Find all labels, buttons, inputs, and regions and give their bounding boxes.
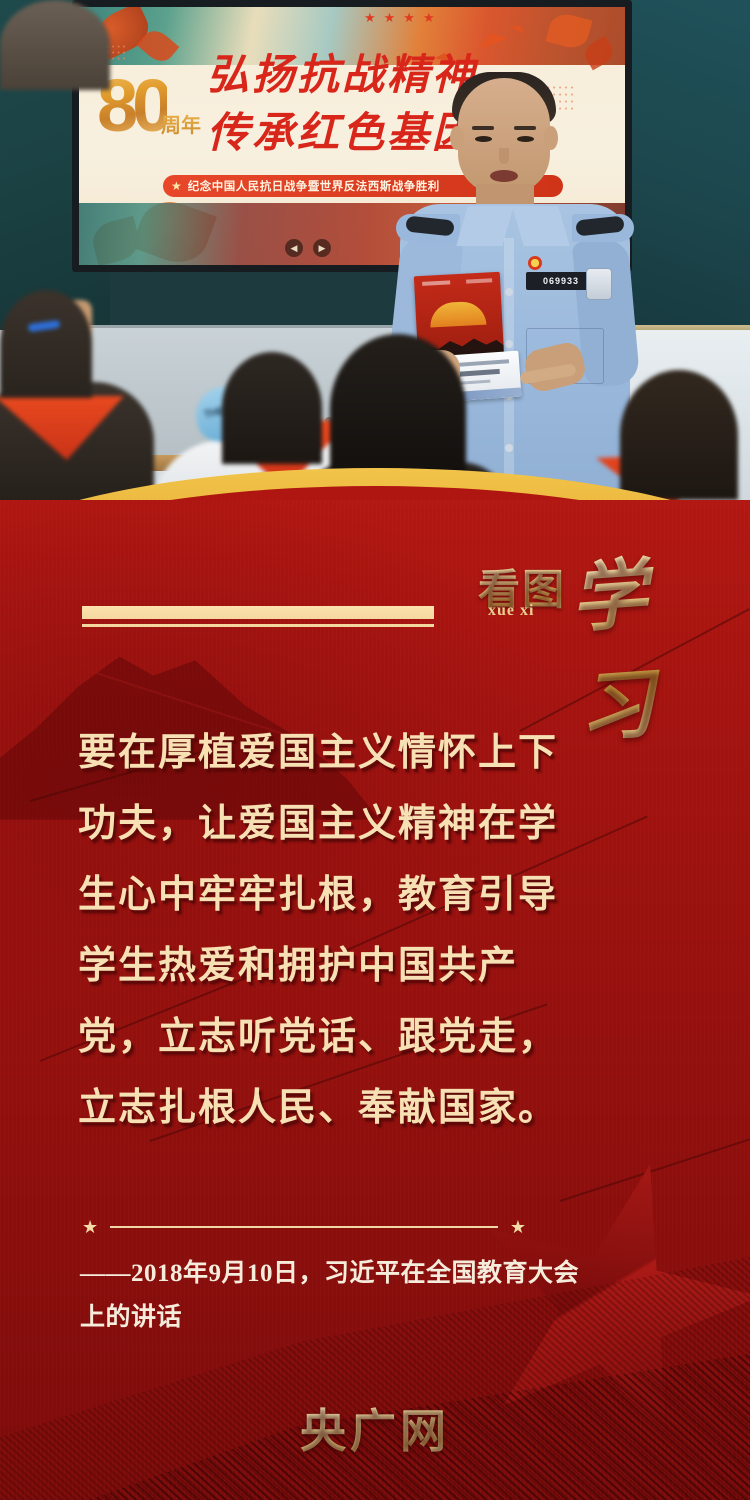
attribution-text: ——2018年9月10日，习近平在全国教育大会上的讲话 (80, 1252, 600, 1340)
quote-line: 生心中牢牢扎根，教育引导 (78, 876, 678, 914)
student-head (330, 334, 466, 484)
logo-script-text: 学习 (567, 527, 726, 757)
foreground-students: THE LAD (0, 0, 750, 510)
kantu-xuexi-logo: 看图 xue xi 学习 (478, 534, 718, 642)
quote-line: 功夫，让爱国主义精神在学 (78, 805, 678, 843)
gold-rule-thick (82, 606, 434, 619)
cnr-brand-logo: 央广网 (300, 1395, 450, 1461)
classroom-photo: ★★★★ ••••••••••••••• •••••••••••••••••••… (0, 0, 750, 510)
logo-pinyin-text: xue xi (488, 602, 534, 620)
footer: 央广网 (0, 1395, 750, 1461)
student-head (620, 370, 738, 500)
gold-rule-thin (82, 624, 434, 627)
attribution-divider: ★ ★ (82, 1216, 526, 1238)
quote-line: 要在厚植爱国主义情怀上下 (78, 734, 678, 772)
quote-line: 学生热爱和拥护中国共产 (78, 947, 678, 985)
quote-line: 党，立志听党话、跟党走， (78, 1018, 678, 1056)
student-head (0, 290, 92, 398)
student-head (0, 0, 110, 90)
star-icon: ★ (82, 1218, 98, 1236)
divider-line (110, 1226, 498, 1228)
star-icon: ★ (510, 1218, 526, 1236)
student-head (222, 352, 322, 464)
quote-text-block: 要在厚植爱国主义情怀上下 功夫，让爱国主义精神在学 生心中牢牢扎根，教育引导 学… (78, 734, 678, 1160)
quote-line: 立志扎根人民、奉献国家。 (78, 1089, 678, 1127)
